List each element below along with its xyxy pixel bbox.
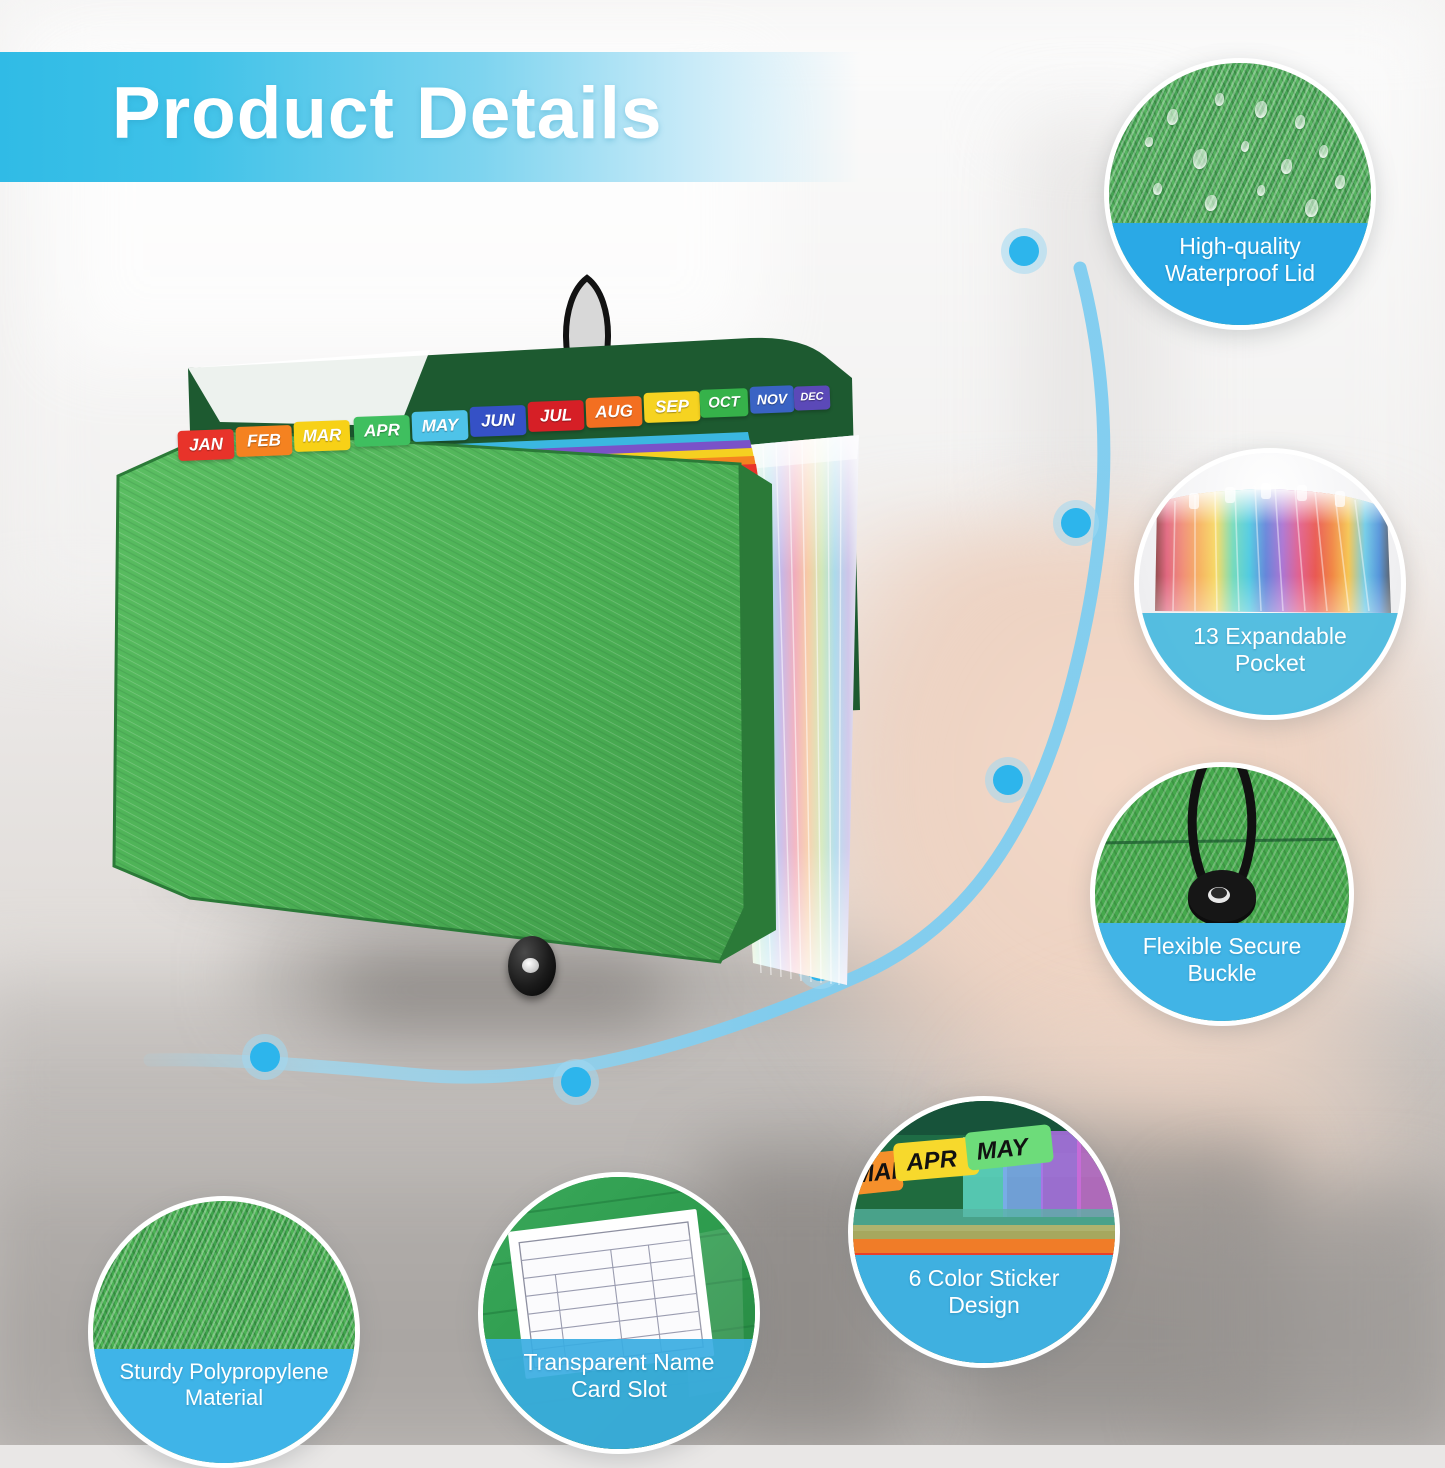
connector-dot-2	[1053, 500, 1099, 546]
caption-line-2: Card Slot	[524, 1376, 715, 1403]
connector-dot-5	[553, 1059, 599, 1105]
month-tab-label: JAN	[189, 434, 224, 454]
month-tab-label: JUN	[481, 410, 516, 430]
water-droplet-icon	[1281, 159, 1292, 174]
month-tab-label: SEP	[655, 396, 690, 416]
caption-line-2: Design	[909, 1292, 1060, 1319]
water-droplet-icon	[1205, 195, 1217, 211]
product-image-expanding-file: JAN FEB MAR APR MAY JUN JUL AUG SEP OCT …	[100, 250, 920, 990]
water-droplet-icon	[1167, 109, 1178, 125]
buckle-button	[508, 936, 556, 996]
month-tab-aug: AUG	[585, 396, 642, 428]
connector-dot-1	[1001, 228, 1047, 274]
caption-line-1: Flexible Secure	[1143, 933, 1302, 960]
water-droplet-icon	[1295, 115, 1305, 129]
feature-bubble-polypropylene-material[interactable]: Sturdy Polypropylene Material	[88, 1196, 360, 1468]
water-droplet-icon	[1319, 145, 1328, 158]
connector-dot-core	[1009, 236, 1039, 266]
water-droplet-icon	[1215, 93, 1224, 106]
caption-line-1: Transparent Name	[524, 1349, 715, 1376]
month-tab-apr: APR	[353, 415, 410, 447]
caption-line-1: 13 Expandable	[1193, 623, 1346, 650]
background-chair-secondary	[1180, 1190, 1440, 1440]
feature-caption-polypropylene-material: Sturdy Polypropylene Material	[93, 1349, 355, 1463]
caption-line-1: Sturdy Polypropylene	[119, 1359, 328, 1385]
caption-line-2: Pocket	[1193, 650, 1346, 677]
water-droplet-icon	[1145, 137, 1153, 147]
feature-caption-expandable-pocket: 13 Expandable Pocket	[1139, 613, 1401, 715]
month-tab-mar: MAR	[293, 420, 350, 452]
month-tab-dec: DEC	[794, 385, 831, 410]
month-tab-label: MAY	[421, 415, 458, 435]
feature-bubble-waterproof-lid[interactable]: High-quality Waterproof Lid	[1104, 58, 1376, 330]
connector-dot-6	[242, 1034, 288, 1080]
page-title: Product Details	[112, 72, 662, 155]
month-tab-jul: JUL	[527, 400, 584, 432]
month-tab-oct: OCT	[699, 388, 748, 418]
connector-dot-core	[561, 1067, 591, 1097]
connector-dot-core	[1061, 508, 1091, 538]
water-droplet-icon	[1335, 175, 1345, 189]
caption-line-2: Waterproof Lid	[1165, 260, 1315, 287]
month-tab-may: MAY	[411, 410, 468, 442]
feature-bubble-expandable-pocket[interactable]: 13 Expandable Pocket	[1134, 448, 1406, 720]
water-droplet-icon	[1241, 141, 1249, 152]
feature-bubble-name-card-slot[interactable]: Transparent Name Card Slot	[478, 1172, 760, 1454]
connector-dot-core	[993, 765, 1023, 795]
month-tab-label: MAR	[302, 425, 341, 445]
water-droplet-icon	[1255, 101, 1267, 118]
month-tab-label: OCT	[708, 393, 740, 411]
caption-line-1: 6 Color Sticker	[909, 1265, 1060, 1292]
connector-dot-3	[985, 757, 1031, 803]
month-tab-label: FEB	[247, 430, 282, 450]
feature-caption-waterproof-lid: High-quality Waterproof Lid	[1109, 223, 1371, 325]
water-droplet-icon	[1305, 199, 1318, 217]
caption-line-1: High-quality	[1165, 233, 1315, 260]
caption-line-2: Buckle	[1143, 960, 1302, 987]
month-tab-label: AUG	[595, 401, 633, 421]
svg-text:APR: APR	[904, 1145, 958, 1176]
feature-caption-name-card-slot: Transparent Name Card Slot	[483, 1339, 755, 1449]
month-tab-jan: JAN	[177, 429, 234, 461]
feature-bubble-secure-buckle[interactable]: Flexible Secure Buckle	[1090, 762, 1354, 1026]
month-tab-jun: JUN	[469, 405, 526, 437]
water-droplet-icon	[1257, 185, 1265, 196]
water-droplet-icon	[1153, 183, 1162, 195]
connector-dot-core	[250, 1042, 280, 1072]
month-tab-label: APR	[364, 420, 401, 440]
feature-caption-secure-buckle: Flexible Secure Buckle	[1095, 923, 1349, 1021]
product-front-body	[100, 430, 800, 990]
svg-text:MAY: MAY	[975, 1133, 1031, 1165]
feature-caption-color-sticker: 6 Color Sticker Design	[853, 1255, 1115, 1363]
month-tab-sep: SEP	[643, 391, 700, 423]
caption-line-2: Material	[119, 1385, 328, 1411]
buckle-rivet-icon	[522, 958, 539, 973]
feature-bubble-color-sticker[interactable]: MAR APR MAY 6 Color Sticker Design	[848, 1096, 1120, 1368]
month-tab-nov: NOV	[749, 385, 794, 414]
month-tab-label: DEC	[800, 391, 824, 404]
month-tab-label: NOV	[757, 390, 788, 407]
month-tab-label: JUL	[540, 405, 573, 425]
month-tab-feb: FEB	[235, 425, 292, 457]
water-droplet-icon	[1193, 149, 1207, 169]
